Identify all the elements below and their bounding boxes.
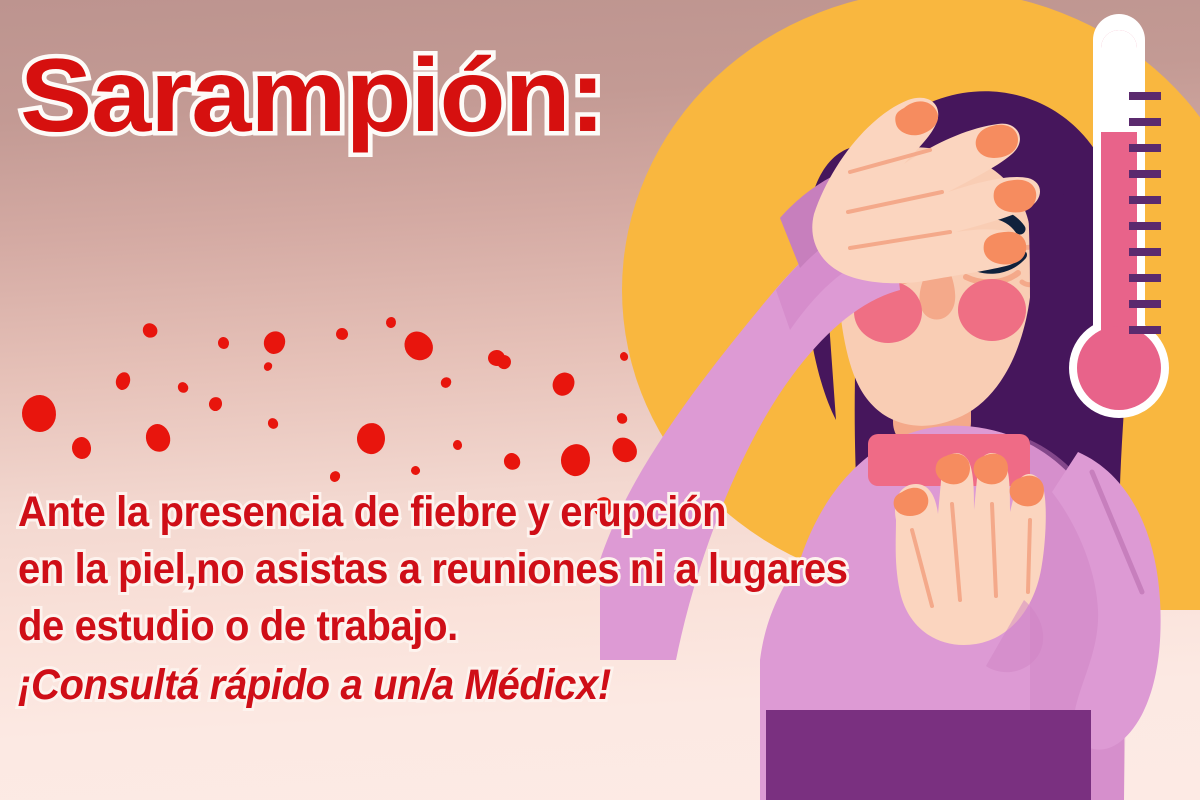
rash-dot bbox=[452, 439, 462, 450]
rash-dot bbox=[399, 326, 439, 366]
rash-dot bbox=[143, 422, 173, 455]
rash-dot bbox=[176, 380, 191, 395]
rash-dot bbox=[114, 370, 133, 391]
rash-dot bbox=[207, 395, 224, 413]
rash-dot bbox=[140, 320, 161, 341]
cheek-blush-right bbox=[958, 279, 1026, 341]
rash-dot bbox=[328, 469, 342, 484]
rash-dot bbox=[266, 416, 280, 431]
rash-dot bbox=[558, 441, 593, 478]
rash-dot bbox=[71, 436, 91, 459]
purple-skirt bbox=[766, 710, 1091, 800]
rash-dot bbox=[439, 375, 454, 390]
measles-awareness-poster: Sarampión: Ante la presencia de fiebre y… bbox=[0, 0, 1200, 800]
rash-dot bbox=[385, 316, 397, 329]
rash-dot bbox=[21, 394, 56, 432]
rash-dot bbox=[262, 360, 274, 372]
rash-dot bbox=[334, 326, 350, 342]
page-title: Sarampión: bbox=[20, 44, 605, 148]
call-to-action-text: ¡Consultá rápido a un/a Médicx! bbox=[18, 657, 848, 714]
rash-dot bbox=[410, 465, 422, 477]
rash-dot bbox=[495, 353, 514, 372]
rash-dot bbox=[488, 350, 506, 367]
rash-dot bbox=[501, 450, 523, 472]
rash-dot bbox=[355, 421, 387, 455]
advisory-line-3: de estudio o de trabajo. bbox=[18, 598, 848, 655]
advisory-line-2: en la piel,no asistas a reuniones ni a l… bbox=[18, 541, 848, 598]
rash-dot bbox=[548, 368, 579, 400]
advisory-text-block: Ante la presencia de fiebre y erupción e… bbox=[18, 484, 910, 714]
rash-dot bbox=[217, 336, 230, 349]
advisory-line-1: Ante la presencia de fiebre y erupción bbox=[18, 484, 848, 541]
rash-dot bbox=[260, 327, 290, 357]
